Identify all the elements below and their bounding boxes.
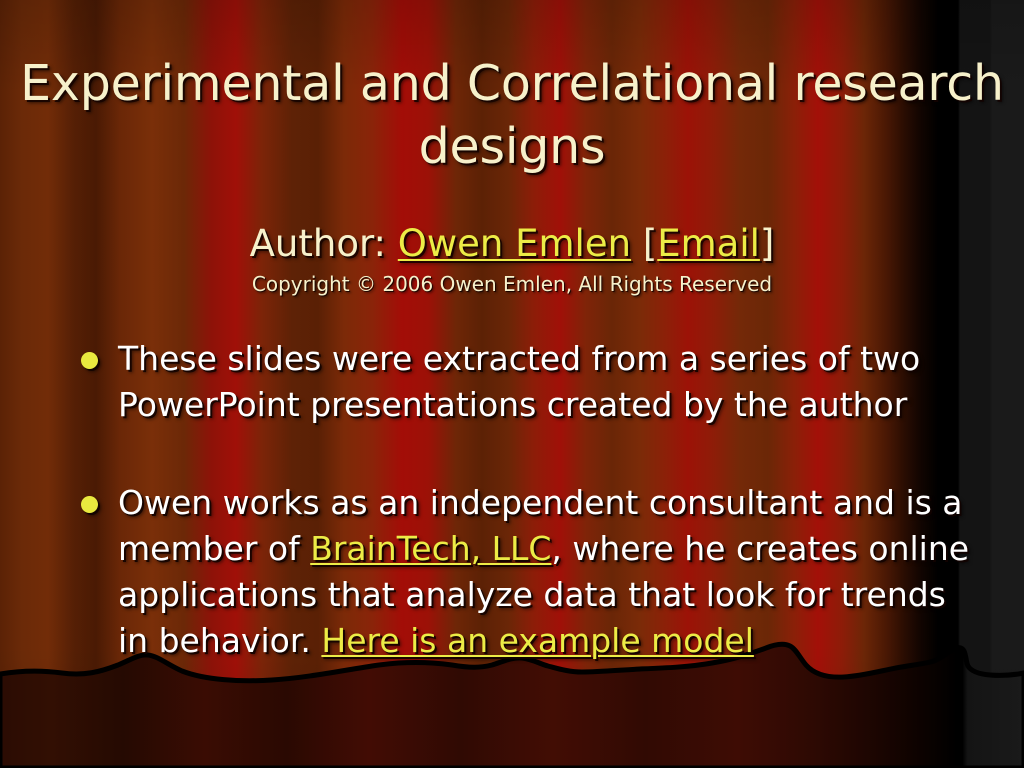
slide-title: Experimental and Correlational research … xyxy=(0,52,1024,178)
author-name-link[interactable]: Owen Emlen xyxy=(398,222,631,265)
list-item-text: Owen works as an independent consultant … xyxy=(118,483,969,660)
author-prefix-label: Author: xyxy=(250,222,398,265)
presentation-slide: Experimental and Correlational research … xyxy=(0,0,1024,768)
copyright-notice: Copyright © 2006 Owen Emlen, All Rights … xyxy=(0,271,1024,297)
slide-content: Experimental and Correlational research … xyxy=(0,0,1024,768)
braintech-llc-link[interactable]: BrainTech, LLC xyxy=(310,529,551,568)
author-line: Author: Owen Emlen [Email] xyxy=(0,222,1024,266)
bullet-list: These slides were extracted from a serie… xyxy=(70,336,985,664)
slide-title-text: Experimental and Correlational research … xyxy=(20,55,1004,175)
list-item-text: These slides were extracted from a serie… xyxy=(118,339,920,424)
bullet-dot-icon xyxy=(81,496,98,513)
list-item: Owen works as an independent consultant … xyxy=(70,480,985,664)
bracket-close: ] xyxy=(760,222,774,265)
bracket-open: [ xyxy=(631,222,657,265)
list-item: These slides were extracted from a serie… xyxy=(70,336,985,428)
bullet-1-text: These slides were extracted from a serie… xyxy=(118,339,920,424)
email-link[interactable]: Email xyxy=(657,222,760,265)
bullet-dot-icon xyxy=(81,352,98,369)
example-model-link[interactable]: Here is an example model xyxy=(321,621,754,660)
